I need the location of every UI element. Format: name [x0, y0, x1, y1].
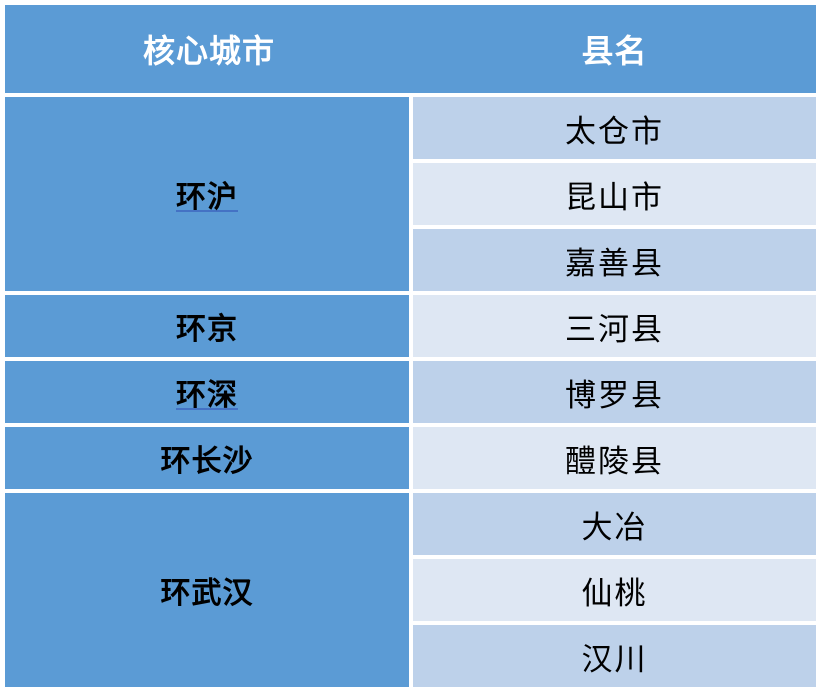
core-city-label: 环武汉	[161, 568, 254, 612]
core-city-label: 环长沙	[161, 436, 254, 480]
core-city-link[interactable]: 环沪	[176, 172, 238, 216]
county-name-cell: 博罗县	[413, 361, 816, 427]
core-city-county-table: 核心城市 县名 环沪太仓市昆山市嘉善县环京三河县环深博罗县环长沙醴陵县环武汉大冶…	[5, 5, 816, 687]
county-table-container: 核心城市 县名 环沪太仓市昆山市嘉善县环京三河县环深博罗县环长沙醴陵县环武汉大冶…	[5, 5, 816, 660]
county-name-cell: 大冶	[413, 493, 816, 559]
table-header: 核心城市 县名	[5, 5, 816, 97]
table-row: 环武汉大冶	[5, 493, 816, 559]
table-row: 环长沙醴陵县	[5, 427, 816, 493]
column-header-core-city: 核心城市	[5, 5, 413, 97]
county-name-cell: 嘉善县	[413, 229, 816, 295]
core-city-cell: 环京	[5, 295, 413, 361]
core-city-label: 环京	[176, 304, 238, 348]
core-city-cell: 环深	[5, 361, 413, 427]
core-city-link[interactable]: 环深	[176, 370, 238, 414]
table-header-row: 核心城市 县名	[5, 5, 816, 97]
table-row: 环沪太仓市	[5, 97, 816, 163]
county-name-cell: 太仓市	[413, 97, 816, 163]
county-name-cell: 昆山市	[413, 163, 816, 229]
table-body: 环沪太仓市昆山市嘉善县环京三河县环深博罗县环长沙醴陵县环武汉大冶仙桃汉川	[5, 97, 816, 687]
county-name-cell: 汉川	[413, 625, 816, 687]
county-name-cell: 仙桃	[413, 559, 816, 625]
county-name-cell: 醴陵县	[413, 427, 816, 493]
core-city-cell: 环武汉	[5, 493, 413, 687]
county-name-cell: 三河县	[413, 295, 816, 361]
table-row: 环京三河县	[5, 295, 816, 361]
core-city-cell: 环长沙	[5, 427, 413, 493]
table-row: 环深博罗县	[5, 361, 816, 427]
column-header-county: 县名	[413, 5, 816, 97]
core-city-cell: 环沪	[5, 97, 413, 295]
